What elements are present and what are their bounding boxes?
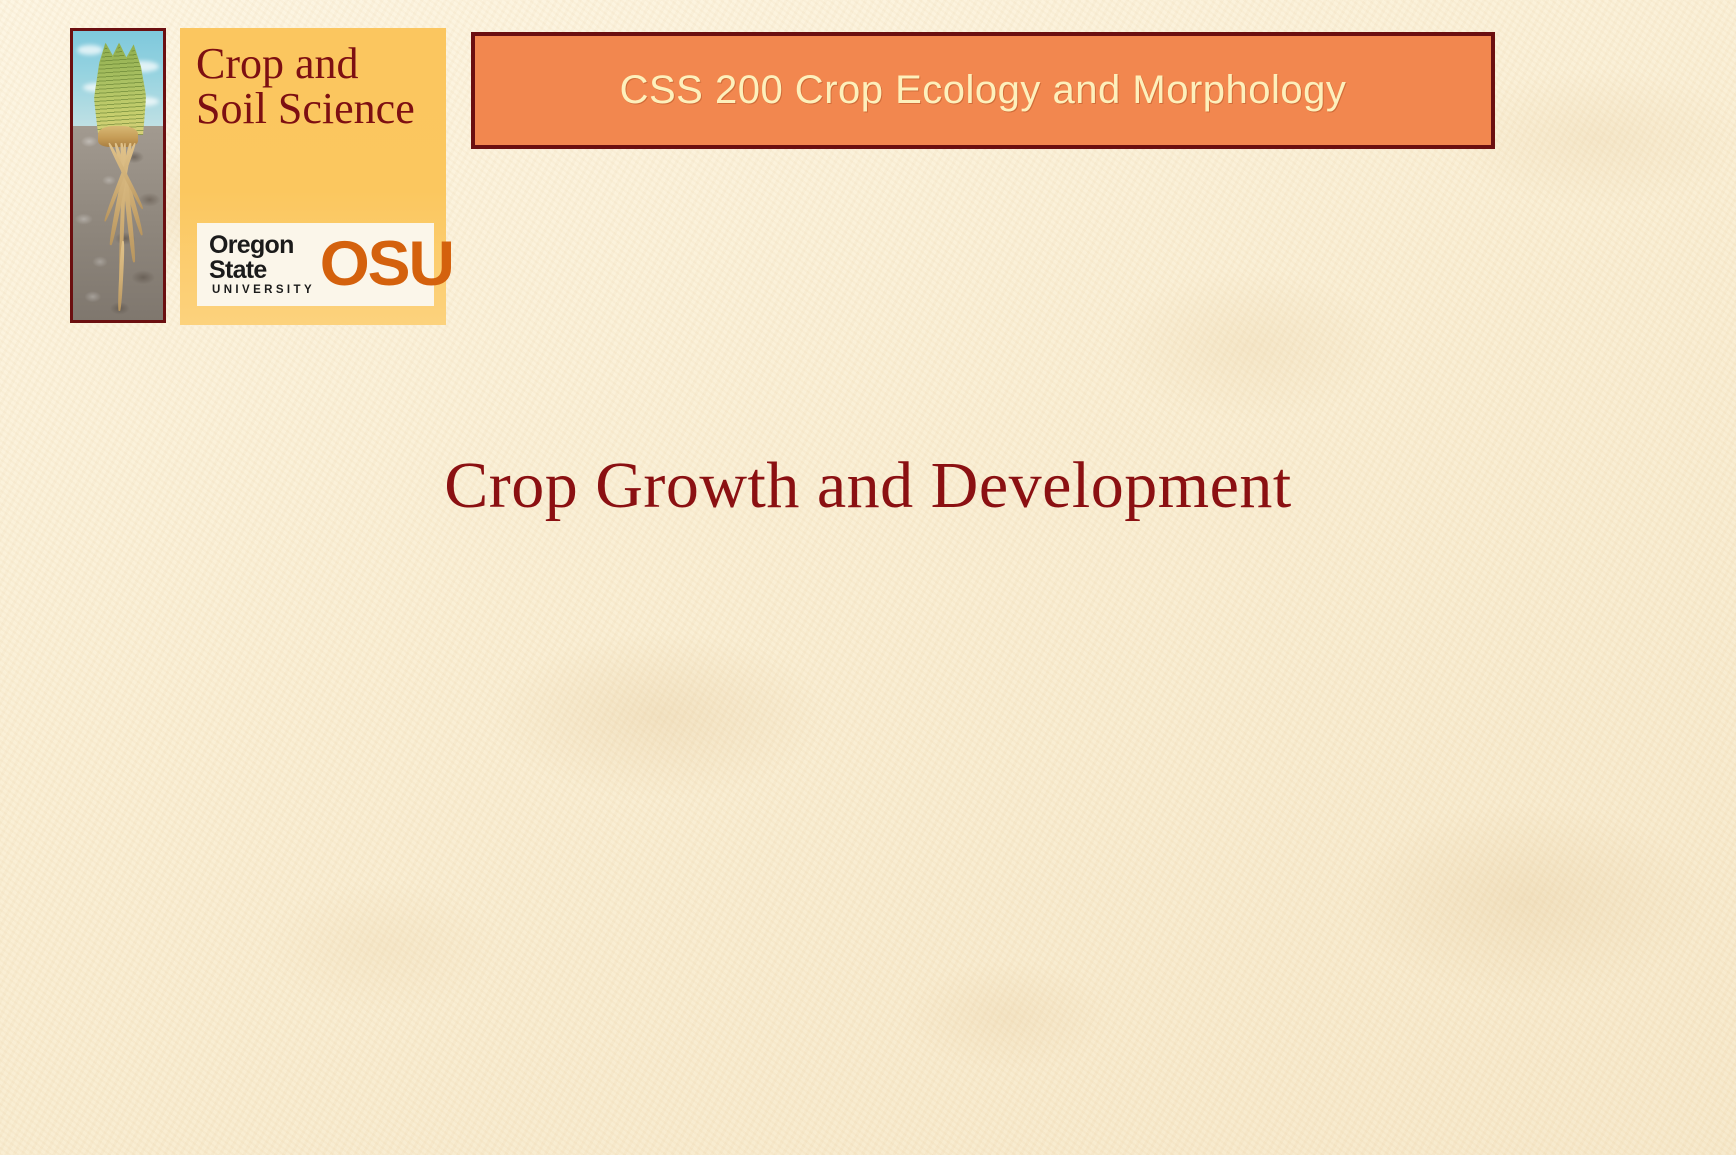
osu-wordmark-line1: Oregon State <box>209 233 315 283</box>
department-logo-block: Crop and Soil Science Oregon State UNIVE… <box>180 28 446 325</box>
osu-wordmark-line2: UNIVERSITY <box>212 285 315 297</box>
plant-crown <box>98 126 138 146</box>
cloud-shape <box>77 45 103 55</box>
plant-root-photo <box>70 28 166 323</box>
osu-logo: Oregon State UNIVERSITY OSU <box>197 223 434 306</box>
department-name: Crop and Soil Science <box>196 42 415 132</box>
slide-canvas: Crop and Soil Science Oregon State UNIVE… <box>0 0 1736 1155</box>
osu-wordmark: Oregon State UNIVERSITY <box>209 233 315 297</box>
course-banner: CSS 200 Crop Ecology and Morphology <box>471 32 1495 149</box>
osu-abbreviation-mark: OSU <box>320 239 453 291</box>
page-title: Crop Growth and Development <box>0 448 1736 524</box>
course-banner-label: CSS 200 Crop Ecology and Morphology <box>620 68 1347 113</box>
slide-body-area <box>120 560 1616 1115</box>
department-name-line2: Soil Science <box>196 84 415 133</box>
department-name-line1: Crop and <box>196 39 359 88</box>
